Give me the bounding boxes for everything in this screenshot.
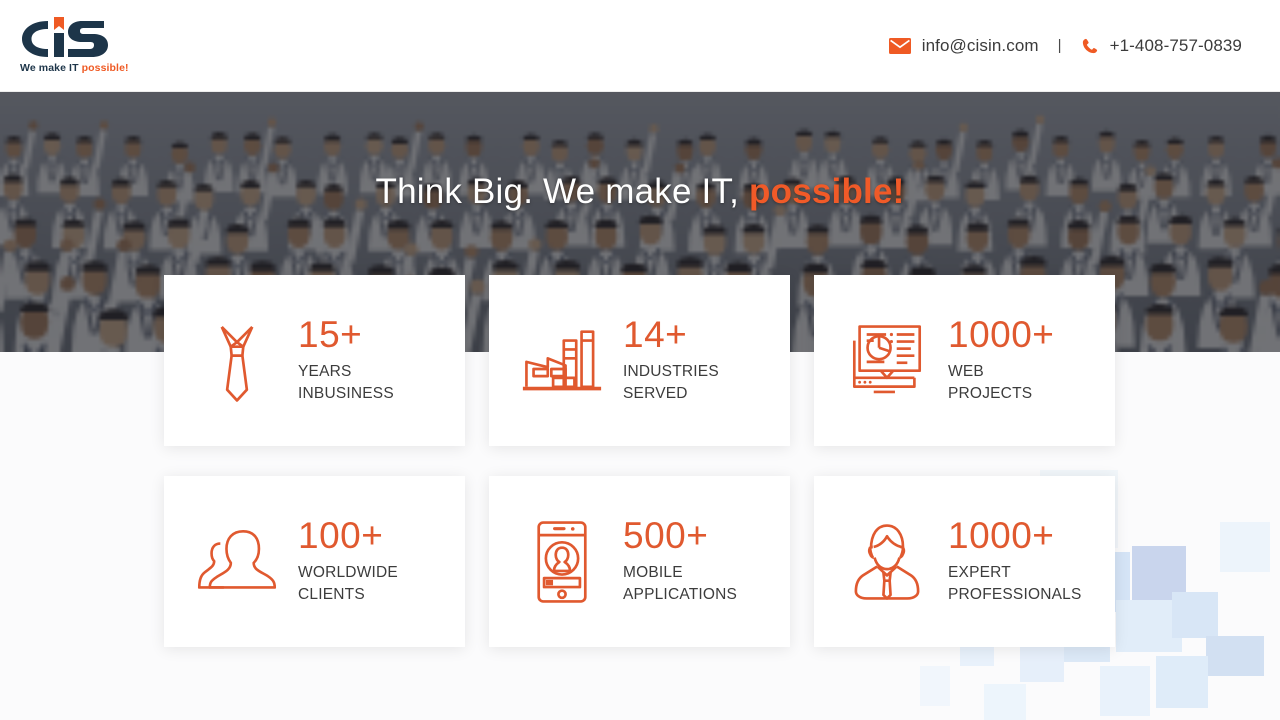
site-header: We make IT possible! info@cisin.com | +1… [0, 0, 1280, 92]
hero-title-accent: possible! [749, 172, 904, 211]
hero-title: Think Big. We make IT, possible! [0, 172, 1280, 212]
phone-icon [1081, 37, 1099, 55]
stat-text: 500+ MOBILE APPLICATIONS [605, 517, 737, 607]
factory-icon [519, 321, 605, 401]
logo-tagline: We make IT possible! [20, 62, 129, 74]
logo[interactable]: We make IT possible! [18, 17, 129, 74]
stat-label: WEB PROJECTS [948, 361, 1054, 405]
contact-phone-label: +1-408-757-0839 [1110, 36, 1242, 56]
stat-card-years-inbusiness[interactable]: 15+ YEARS INBUSINESS [164, 275, 465, 446]
contact-phone[interactable]: +1-408-757-0839 [1081, 36, 1242, 56]
contact-email[interactable]: info@cisin.com [889, 36, 1039, 56]
cis-logo-icon [18, 17, 114, 61]
envelope-icon [889, 38, 911, 54]
header-contact: info@cisin.com | +1-408-757-0839 [889, 36, 1242, 56]
hero-title-plain: Think Big. We make IT, [376, 172, 750, 211]
necktie-icon [194, 318, 280, 404]
stat-number: 14+ [623, 316, 719, 355]
stat-number: 100+ [298, 517, 398, 556]
stat-number: 15+ [298, 316, 394, 355]
contact-email-label: info@cisin.com [922, 36, 1039, 56]
stat-label: YEARS INBUSINESS [298, 361, 394, 405]
stat-text: 1000+ WEB PROJECTS [930, 316, 1054, 406]
logo-tagline-accent: possible! [82, 62, 129, 74]
stat-text: 100+ WORLDWIDE CLIENTS [280, 517, 398, 607]
stat-label: WORLDWIDE CLIENTS [298, 562, 398, 606]
stats-grid: 15+ YEARS INBUSINESS [164, 275, 1116, 647]
stat-label: EXPERT PROFESSIONALS [948, 562, 1082, 606]
mobile-user-icon [519, 519, 605, 605]
stat-card-industries-served[interactable]: 14+ INDUSTRIES SERVED [489, 275, 790, 446]
stat-card-worldwide-clients[interactable]: 100+ WORLDWIDE CLIENTS [164, 476, 465, 647]
professional-icon [844, 520, 930, 604]
monitor-chart-icon [844, 323, 930, 399]
stat-number: 1000+ [948, 517, 1082, 556]
users-icon [194, 523, 280, 601]
stat-card-web-projects[interactable]: 1000+ WEB PROJECTS [814, 275, 1115, 446]
stat-number: 1000+ [948, 316, 1054, 355]
stat-label: MOBILE APPLICATIONS [623, 562, 737, 606]
stats-section: 15+ YEARS INBUSINESS [0, 275, 1280, 647]
stat-card-expert-professionals[interactable]: 1000+ EXPERT PROFESSIONALS [814, 476, 1115, 647]
stat-text: 15+ YEARS INBUSINESS [280, 316, 394, 406]
stat-text: 14+ INDUSTRIES SERVED [605, 316, 719, 406]
stat-label: INDUSTRIES SERVED [623, 361, 719, 405]
stat-card-mobile-applications[interactable]: 500+ MOBILE APPLICATIONS [489, 476, 790, 647]
logo-tagline-main: We make IT [20, 62, 82, 74]
contact-separator: | [1058, 37, 1062, 54]
stat-number: 500+ [623, 517, 737, 556]
stat-text: 1000+ EXPERT PROFESSIONALS [930, 517, 1082, 607]
